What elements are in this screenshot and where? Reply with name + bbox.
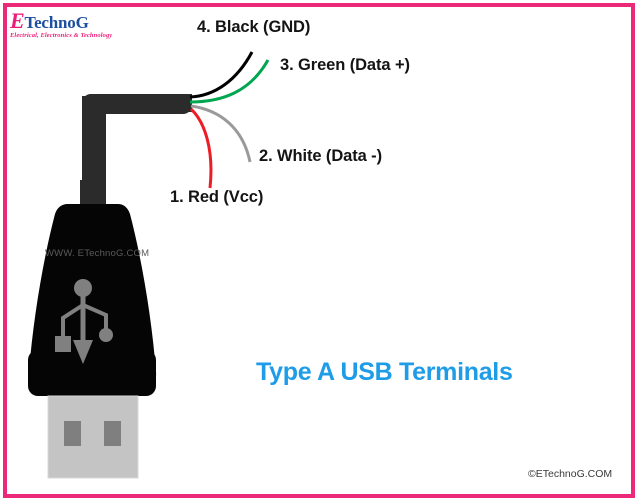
brand-logo: ETechnoG Electrical, Electronics & Techn…	[10, 12, 170, 46]
wire-label-red-vcc: 1. Red (Vcc)	[170, 188, 263, 207]
wire-label-green-data-plus: 3. Green (Data +)	[280, 56, 410, 75]
watermark-text: WWW. ETechnoG.COM	[45, 248, 149, 259]
page-title: Type A USB Terminals	[256, 358, 513, 387]
brand-tagline: Electrical, Electronics & Technology	[10, 32, 170, 39]
usb-plug-body	[28, 204, 156, 396]
copyright-notice: ©ETechnoG.COM	[528, 468, 612, 480]
wire-red-vcc	[191, 109, 211, 188]
wire-white-data-minus	[191, 106, 250, 162]
brand-wordmark: ETechnoG	[10, 12, 170, 31]
brand-initial: E	[10, 8, 24, 33]
wire-label-black-gnd: 4. Black (GND)	[197, 18, 310, 37]
brand-name: TechnoG	[24, 13, 88, 32]
wire-label-white-data-minus: 2. White (Data -)	[259, 147, 382, 166]
usb-terminals-diagram-page: ETechnoG Electrical, Electronics & Techn…	[0, 0, 639, 502]
usb-metal-shield	[48, 396, 138, 478]
wire-black-gnd	[190, 52, 252, 97]
